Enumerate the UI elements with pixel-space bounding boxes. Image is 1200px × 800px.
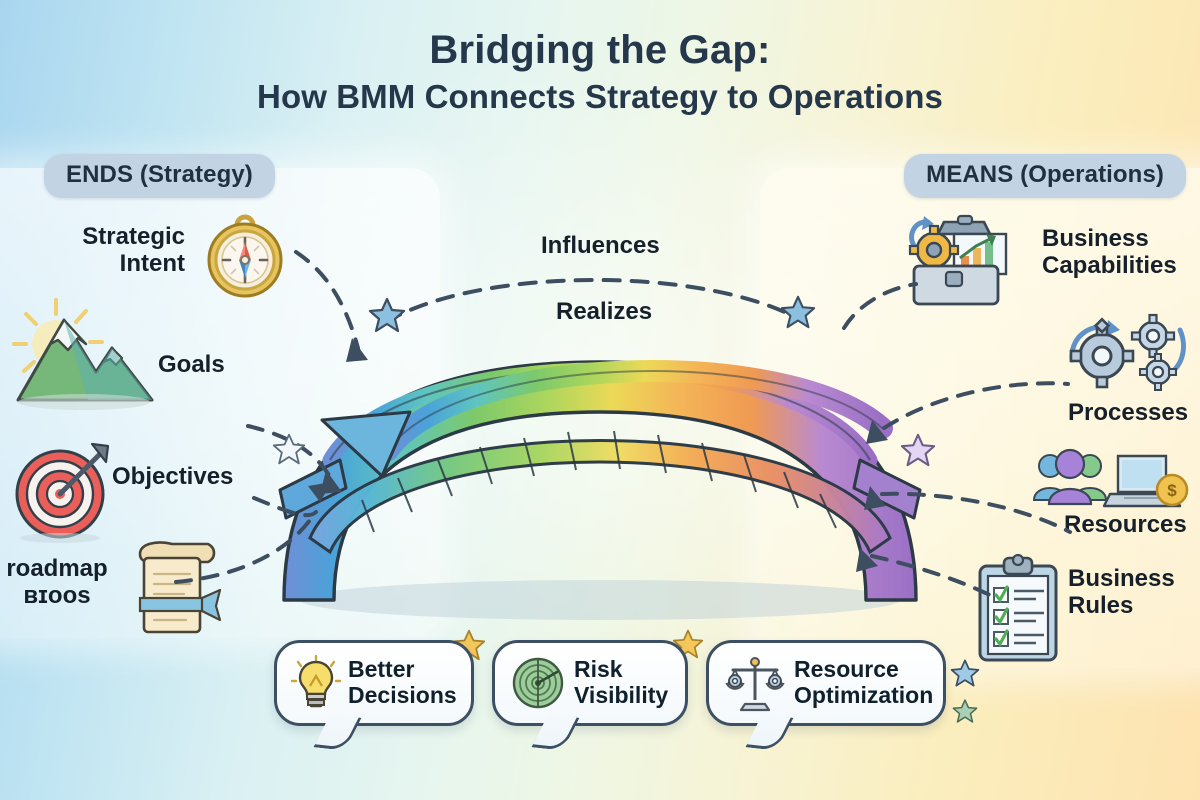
infographic-canvas: Bridging the Gap: How BMM Connects Strat… [0, 0, 1200, 800]
outcome-label: Resource Optimization [794, 657, 933, 709]
outcome-bubble-risk-visibility[interactable]: Risk Visibility [492, 640, 688, 726]
balance-scale-icon [725, 654, 785, 712]
title-block: Bridging the Gap: How BMM Connects Strat… [0, 28, 1200, 116]
right-dashed-connectors [820, 280, 1090, 610]
outcome-label: Better Decisions [348, 657, 457, 709]
outcome-bubble-better-decisions[interactable]: Better Decisions [274, 640, 474, 726]
page-subtitle: How BMM Connects Strategy to Operations [0, 78, 1200, 116]
blue-star-icon [780, 294, 816, 330]
svg-text:$: $ [1167, 481, 1177, 500]
purple-star-icon [900, 432, 936, 468]
label-business-capabilities: Business Capabilities [1042, 226, 1177, 280]
lightbulb-icon [293, 656, 339, 710]
radar-icon [511, 656, 565, 710]
left-dashed-connectors [120, 230, 370, 590]
means-badge: MEANS (Operations) [904, 154, 1186, 198]
white-star-icon [272, 432, 306, 466]
label-roadmap: roadmap ʙɪᴏᴏs [0, 556, 120, 610]
influences-dashed-arc [360, 250, 830, 360]
outcome-label: Risk Visibility [574, 657, 668, 709]
target-bullseye-icon [8, 434, 118, 544]
blue-star-icon [368, 296, 406, 334]
green-star-icon [952, 698, 978, 724]
outcome-bubble-resource-optimization[interactable]: Resource Optimization [706, 640, 946, 726]
blue-star-icon [950, 658, 980, 688]
page-title: Bridging the Gap: [0, 28, 1200, 72]
ends-badge: ENDS (Strategy) [44, 154, 275, 198]
